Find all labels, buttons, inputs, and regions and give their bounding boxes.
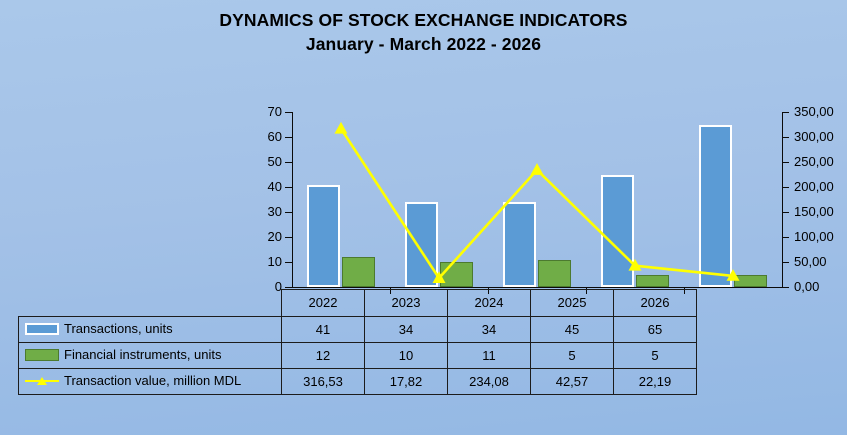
table-value-cell: 22,19 [614, 368, 697, 394]
table-value-cell: 17,82 [365, 368, 448, 394]
right-axis-tick [782, 287, 789, 288]
table-year-header: 2022 [282, 290, 365, 317]
bar-transactions [601, 175, 634, 288]
left-axis-tick [285, 162, 292, 163]
right-axis-tick-label: 50,00 [794, 255, 827, 268]
chart-container: DYNAMICS OF STOCK EXCHANGE INDICATORS Ja… [0, 0, 847, 435]
table-row: Transaction value, million MDL316,5317,8… [19, 368, 697, 394]
legend-label: Financial instruments, units [64, 348, 222, 362]
right-axis-tick-label: 150,00 [794, 205, 834, 218]
table-row: Transactions, units4134344565 [19, 316, 697, 342]
bar-financial-instruments [734, 275, 767, 288]
left-axis-tick-label: 70 [222, 105, 282, 118]
table-year-header: 2026 [614, 290, 697, 317]
right-axis-tick-label: 250,00 [794, 155, 834, 168]
green-swatch-icon [25, 349, 59, 361]
left-axis-tick [285, 287, 292, 288]
bar-transactions [307, 185, 340, 288]
yellow-line-marker-icon [25, 375, 59, 387]
legend-label: Transactions, units [64, 322, 173, 336]
table-value-cell: 11 [448, 342, 531, 368]
plot-area: 706050403020100 350,00300,00250,00200,00… [292, 112, 784, 287]
table-value-cell: 5 [614, 342, 697, 368]
legend-cell: Transactions, units [19, 316, 282, 342]
table-year-header: 2024 [448, 290, 531, 317]
bar-financial-instruments [342, 257, 375, 287]
right-axis-tick-label: 350,00 [794, 105, 834, 118]
left-axis-tick-label: 50 [222, 155, 282, 168]
chart-subtitle: January - March 2022 - 2026 [0, 32, 847, 57]
transaction-value-line [341, 129, 733, 278]
left-axis-tick-label: 40 [222, 180, 282, 193]
right-axis-tick [782, 187, 789, 188]
table-value-cell: 34 [448, 316, 531, 342]
table-row: Financial instruments, units12101155 [19, 342, 697, 368]
legend-cell: Transaction value, million MDL [19, 368, 282, 394]
table-value-cell: 42,57 [531, 368, 614, 394]
right-value-axis [782, 112, 783, 287]
right-axis-tick [782, 137, 789, 138]
bar-transactions [699, 125, 732, 288]
left-axis-tick-label: 30 [222, 205, 282, 218]
bar-transactions [405, 202, 438, 287]
left-value-axis [292, 112, 293, 287]
bar-transactions [503, 202, 536, 287]
data-table: 20222023202420252026Transactions, units4… [18, 289, 697, 395]
table-value-cell: 12 [282, 342, 365, 368]
left-axis-tick [285, 112, 292, 113]
left-axis-tick-label: 20 [222, 230, 282, 243]
left-axis-tick-label: 60 [222, 130, 282, 143]
bar-financial-instruments [440, 262, 473, 287]
blue-swatch-icon [25, 323, 59, 335]
right-axis-tick-label: 300,00 [794, 130, 834, 143]
table-value-cell: 234,08 [448, 368, 531, 394]
left-axis-tick [285, 237, 292, 238]
category-axis [292, 287, 784, 288]
right-axis-tick [782, 212, 789, 213]
transaction-value-markers [335, 122, 740, 283]
left-axis-tick [285, 187, 292, 188]
line-marker-triangle [531, 163, 544, 175]
table-value-cell: 5 [531, 342, 614, 368]
table-value-cell: 65 [614, 316, 697, 342]
right-axis-tick [782, 162, 789, 163]
table-value-cell: 34 [365, 316, 448, 342]
table-value-cell: 316,53 [282, 368, 365, 394]
table-value-cell: 45 [531, 316, 614, 342]
right-axis-tick [782, 112, 789, 113]
left-axis-tick-label: 10 [222, 255, 282, 268]
table-header-row: 20222023202420252026 [19, 290, 697, 317]
bar-financial-instruments [636, 275, 669, 288]
left-axis-tick [285, 212, 292, 213]
table-corner-spacer [19, 290, 282, 317]
line-marker-triangle [335, 122, 348, 134]
title-block: DYNAMICS OF STOCK EXCHANGE INDICATORS Ja… [0, 8, 847, 57]
right-axis-tick-label: 200,00 [794, 180, 834, 193]
right-axis-tick-label: 0,00 [794, 280, 819, 293]
table-value-cell: 10 [365, 342, 448, 368]
chart-title: DYNAMICS OF STOCK EXCHANGE INDICATORS [0, 8, 847, 32]
table-value-cell: 41 [282, 316, 365, 342]
right-axis-tick-label: 100,00 [794, 230, 834, 243]
table-year-header: 2025 [531, 290, 614, 317]
right-axis-tick [782, 237, 789, 238]
table-year-header: 2023 [365, 290, 448, 317]
left-axis-tick [285, 262, 292, 263]
legend-cell: Financial instruments, units [19, 342, 282, 368]
right-axis-tick [782, 262, 789, 263]
left-axis-tick [285, 137, 292, 138]
bar-financial-instruments [538, 260, 571, 288]
legend-label: Transaction value, million MDL [64, 374, 241, 388]
